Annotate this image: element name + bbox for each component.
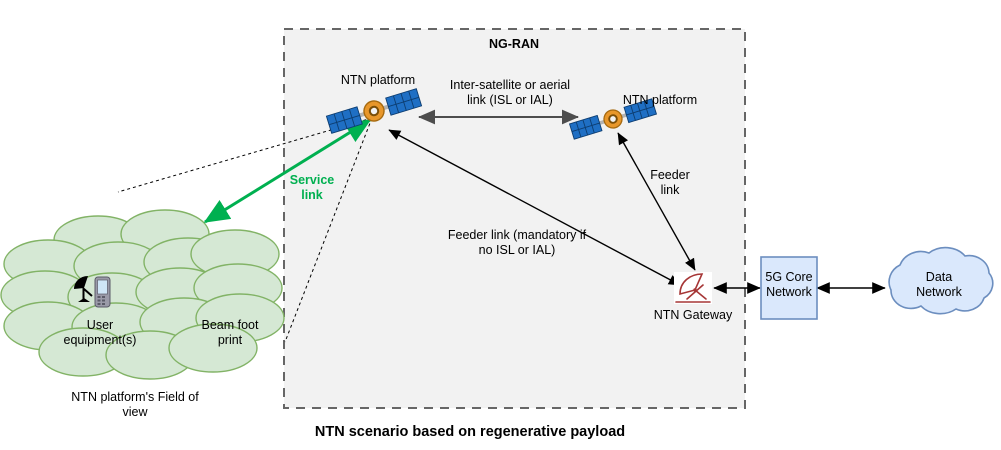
- ngran-boundary: [284, 29, 745, 408]
- ntn-gateway-icon: [674, 272, 712, 304]
- core-network-box: [761, 257, 817, 319]
- diagram-canvas: [0, 0, 1001, 450]
- ntn-architecture-diagram: NG-RAN NTN platform NTN platform Inter-s…: [0, 0, 1001, 450]
- data-network-cloud: [889, 248, 993, 314]
- beam-footprint-cluster: [1, 210, 284, 379]
- ue-handset-icon: [95, 277, 110, 307]
